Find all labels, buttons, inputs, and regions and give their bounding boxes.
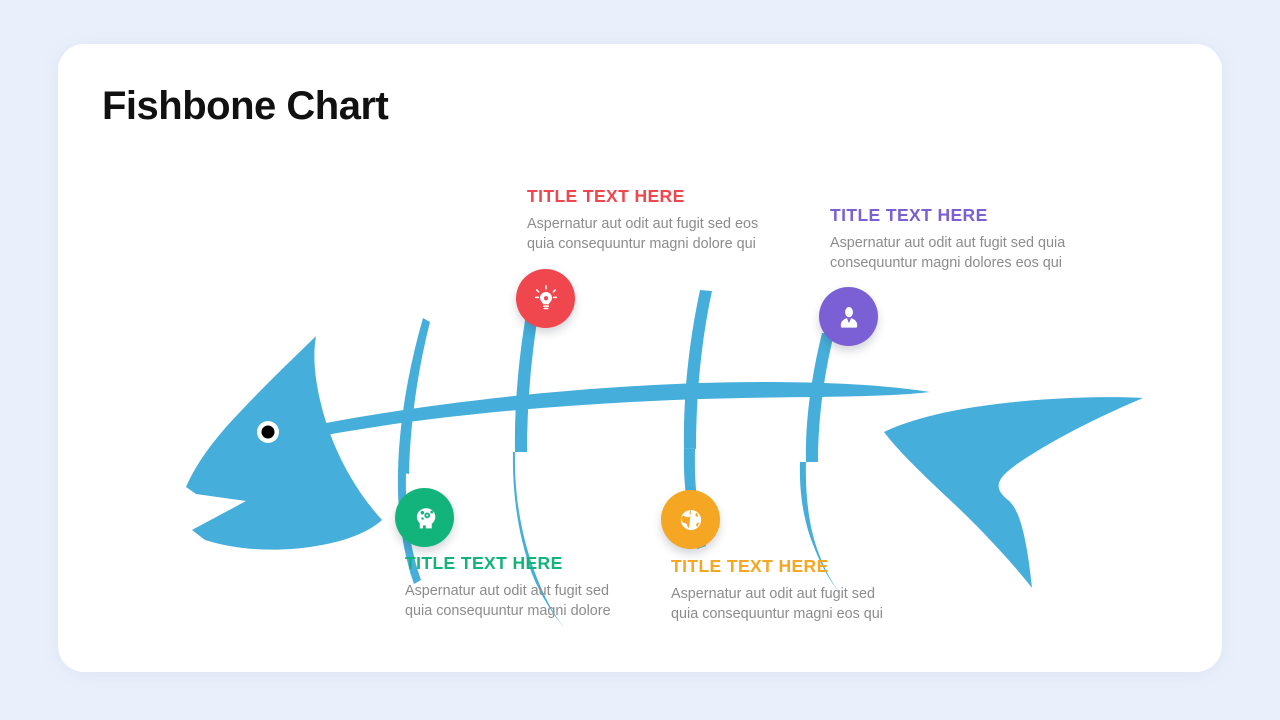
callout-green-title: TITLE TEXT HERE bbox=[405, 553, 655, 574]
callout-orange-body: Aspernatur aut odit aut fugit sed quia c… bbox=[671, 584, 921, 625]
fish-eye-pupil bbox=[262, 426, 275, 439]
callout-purple-body: Aspernatur aut odit aut fugit sed quia c… bbox=[830, 233, 1100, 274]
person-icon[interactable] bbox=[819, 287, 878, 346]
callout-purple-title: TITLE TEXT HERE bbox=[830, 205, 1100, 226]
person-icon-glyph bbox=[835, 303, 863, 331]
callout-red-body: Aspernatur aut odit aut fugit sed eos qu… bbox=[527, 214, 787, 255]
lightbulb-icon-glyph bbox=[531, 284, 561, 314]
callout-orange-title: TITLE TEXT HERE bbox=[671, 556, 921, 577]
callout-purple[interactable]: TITLE TEXT HERE Aspernatur aut odit aut … bbox=[830, 205, 1100, 274]
rib-orange-body bbox=[684, 290, 712, 449]
slide-canvas: Fishbone Chart TITLE bbox=[0, 0, 1280, 720]
callout-green[interactable]: TITLE TEXT HERE Aspernatur aut odit aut … bbox=[405, 553, 655, 622]
globe-icon-glyph bbox=[677, 506, 705, 534]
globe-icon[interactable] bbox=[661, 490, 720, 549]
callout-red[interactable]: TITLE TEXT HERE Aspernatur aut odit aut … bbox=[527, 186, 787, 255]
callout-green-body: Aspernatur aut odit aut fugit sed quia c… bbox=[405, 581, 655, 622]
callout-orange[interactable]: TITLE TEXT HERE Aspernatur aut odit aut … bbox=[671, 556, 921, 625]
head-gears-icon-glyph bbox=[410, 503, 440, 533]
fish-head bbox=[186, 336, 382, 550]
fish-tail bbox=[884, 397, 1143, 588]
fish-spine bbox=[300, 382, 930, 440]
callout-red-title: TITLE TEXT HERE bbox=[527, 186, 787, 207]
head-gears-icon[interactable] bbox=[395, 488, 454, 547]
rib-purple-body bbox=[806, 333, 834, 462]
lightbulb-icon[interactable] bbox=[516, 269, 575, 328]
rib-green-body bbox=[398, 318, 430, 474]
